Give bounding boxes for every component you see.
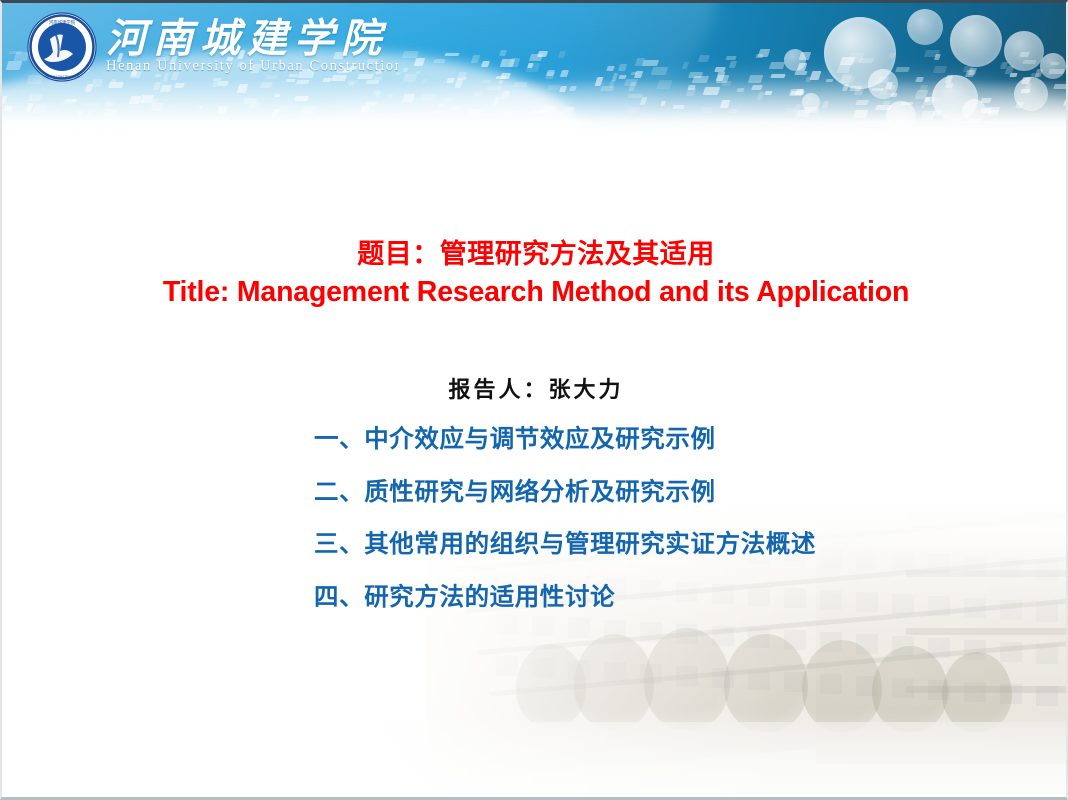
title-english: Title: Management Research Method and it…	[2, 275, 1068, 310]
university-crest-icon: 河南城建学院 URBAN CONSTRUCTION	[26, 11, 98, 83]
logo-name-en: Henan University of Urban Construction	[106, 58, 398, 75]
logo-text-block: 河南城建学院 Henan University of Urban Constru…	[106, 18, 398, 77]
svg-text:URBAN CONSTRUCTION: URBAN CONSTRUCTION	[44, 75, 80, 79]
toc-item: 一、中介效应与调节效应及研究示例	[314, 427, 1014, 452]
table-of-contents: 一、中介效应与调节效应及研究示例二、质性研究与网络分析及研究示例三、其他常用的组…	[314, 427, 1014, 637]
presenter-line: 报告人：张大力	[2, 372, 1068, 404]
svg-text:河南城建学院: 河南城建学院	[49, 19, 76, 26]
slide-content: 题目：管理研究方法及其适用 Title: Management Research…	[2, 3, 1068, 800]
university-logo: 河南城建学院 URBAN CONSTRUCTION 河南城建学院 Henan U…	[26, 11, 398, 83]
title-chinese: 题目：管理研究方法及其适用	[2, 239, 1068, 272]
title-block: 题目：管理研究方法及其适用 Title: Management Research…	[2, 239, 1068, 310]
logo-name-cn: 河南城建学院	[106, 18, 398, 60]
toc-item: 四、研究方法的适用性讨论	[314, 585, 1014, 610]
presentation-slide: 河南城建学院 URBAN CONSTRUCTION 河南城建学院 Henan U…	[0, 0, 1068, 800]
toc-item: 三、其他常用的组织与管理研究实证方法概述	[314, 532, 1014, 557]
toc-item: 二、质性研究与网络分析及研究示例	[314, 480, 1014, 505]
